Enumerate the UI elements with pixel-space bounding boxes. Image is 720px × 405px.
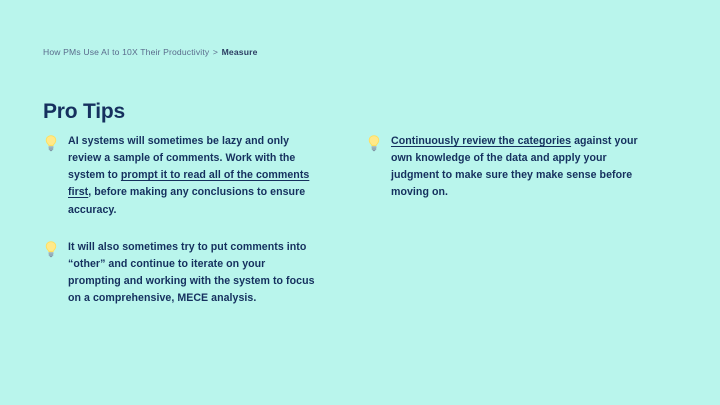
tip-emphasis: Continuously review the categories [391,135,571,147]
tip-item: Continuously review the categories again… [366,133,683,202]
breadcrumb-current: Measure [222,47,258,57]
lightbulb-icon [366,134,382,152]
tip-item: AI systems will sometimes be lazy and on… [43,133,363,219]
tips-columns: AI systems will sometimes be lazy and on… [43,133,683,307]
lightbulb-icon [43,240,59,258]
breadcrumb-separator: > [212,47,219,57]
tip-item: It will also sometimes try to put commen… [43,239,363,308]
slide: How PMs Use AI to 10X Their Productivity… [0,0,720,405]
tip-text: AI systems will sometimes be lazy and on… [68,133,316,219]
tip-text: It will also sometimes try to put commen… [68,239,316,308]
breadcrumb-root[interactable]: How PMs Use AI to 10X Their Productivity [43,47,209,57]
breadcrumb: How PMs Use AI to 10X Their Productivity… [43,47,258,57]
tip-text-run: It will also sometimes try to put commen… [68,241,315,304]
tip-text: Continuously review the categories again… [391,133,639,202]
tip-text-run: , before making any conclusions to ensur… [68,186,305,215]
tips-column-right: Continuously review the categories again… [363,133,683,307]
tips-column-left: AI systems will sometimes be lazy and on… [43,133,363,307]
page-title: Pro Tips [43,100,125,123]
lightbulb-icon [43,134,59,152]
